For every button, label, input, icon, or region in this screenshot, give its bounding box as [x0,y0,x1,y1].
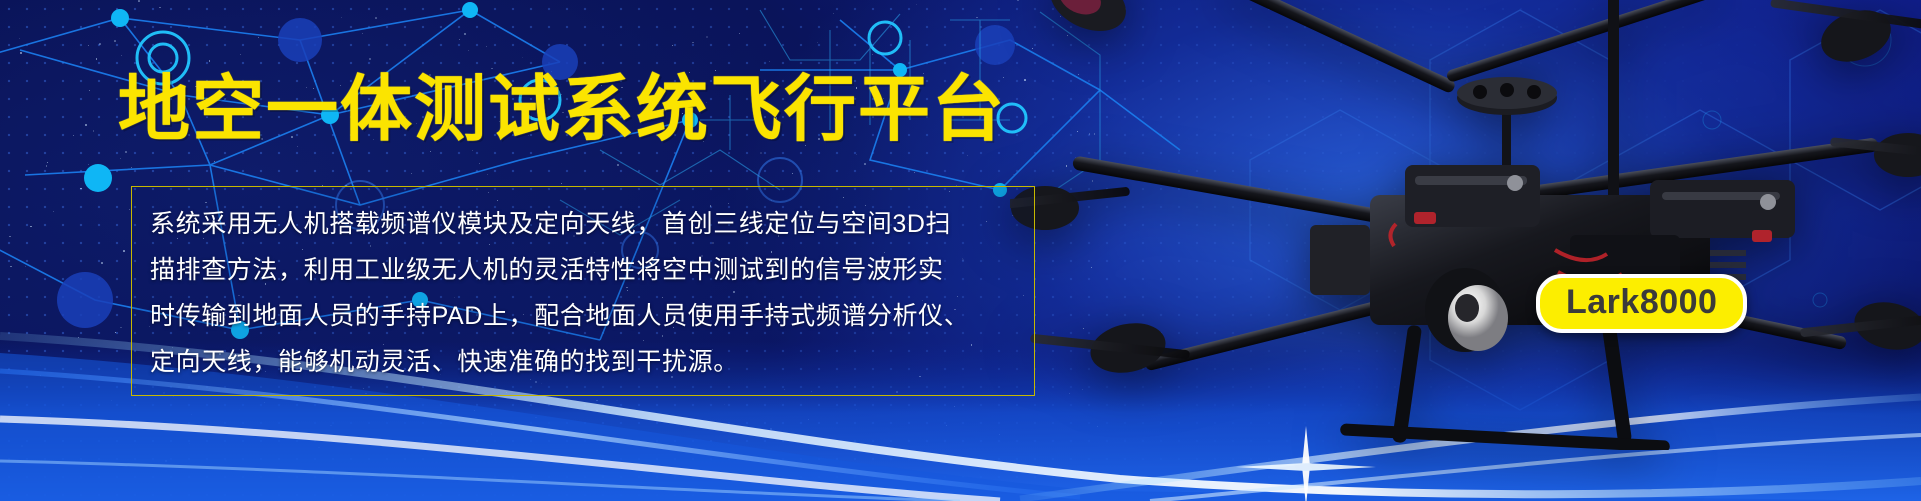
description-line-2: 描排查方法，利用工业级无人机的灵活特性将空中测试到的信号波形实 [150,247,1016,293]
description-box: 系统采用无人机搭载频谱仪模块及定向天线，首创三线定位与空间3D扫 描排查方法，利… [131,186,1035,396]
product-name-badge: Lark8000 [1536,274,1747,333]
promo-banner: 地空一体测试系统飞行平台 系统采用无人机搭载频谱仪模块及定向天线，首创三线定位与… [0,0,1921,501]
description-line-1: 系统采用无人机搭载频谱仪模块及定向天线，首创三线定位与空间3D扫 [150,201,1016,247]
hexacopter-drone-image [1010,0,1921,450]
description-line-4: 定向天线，能够机动灵活、快速准确的找到干扰源。 [150,339,1016,385]
description-line-3: 时传输到地面人员的手持PAD上，配合地面人员使用手持式频谱分析仪、 [150,293,1016,339]
page-title: 地空一体测试系统飞行平台 [118,74,1006,146]
